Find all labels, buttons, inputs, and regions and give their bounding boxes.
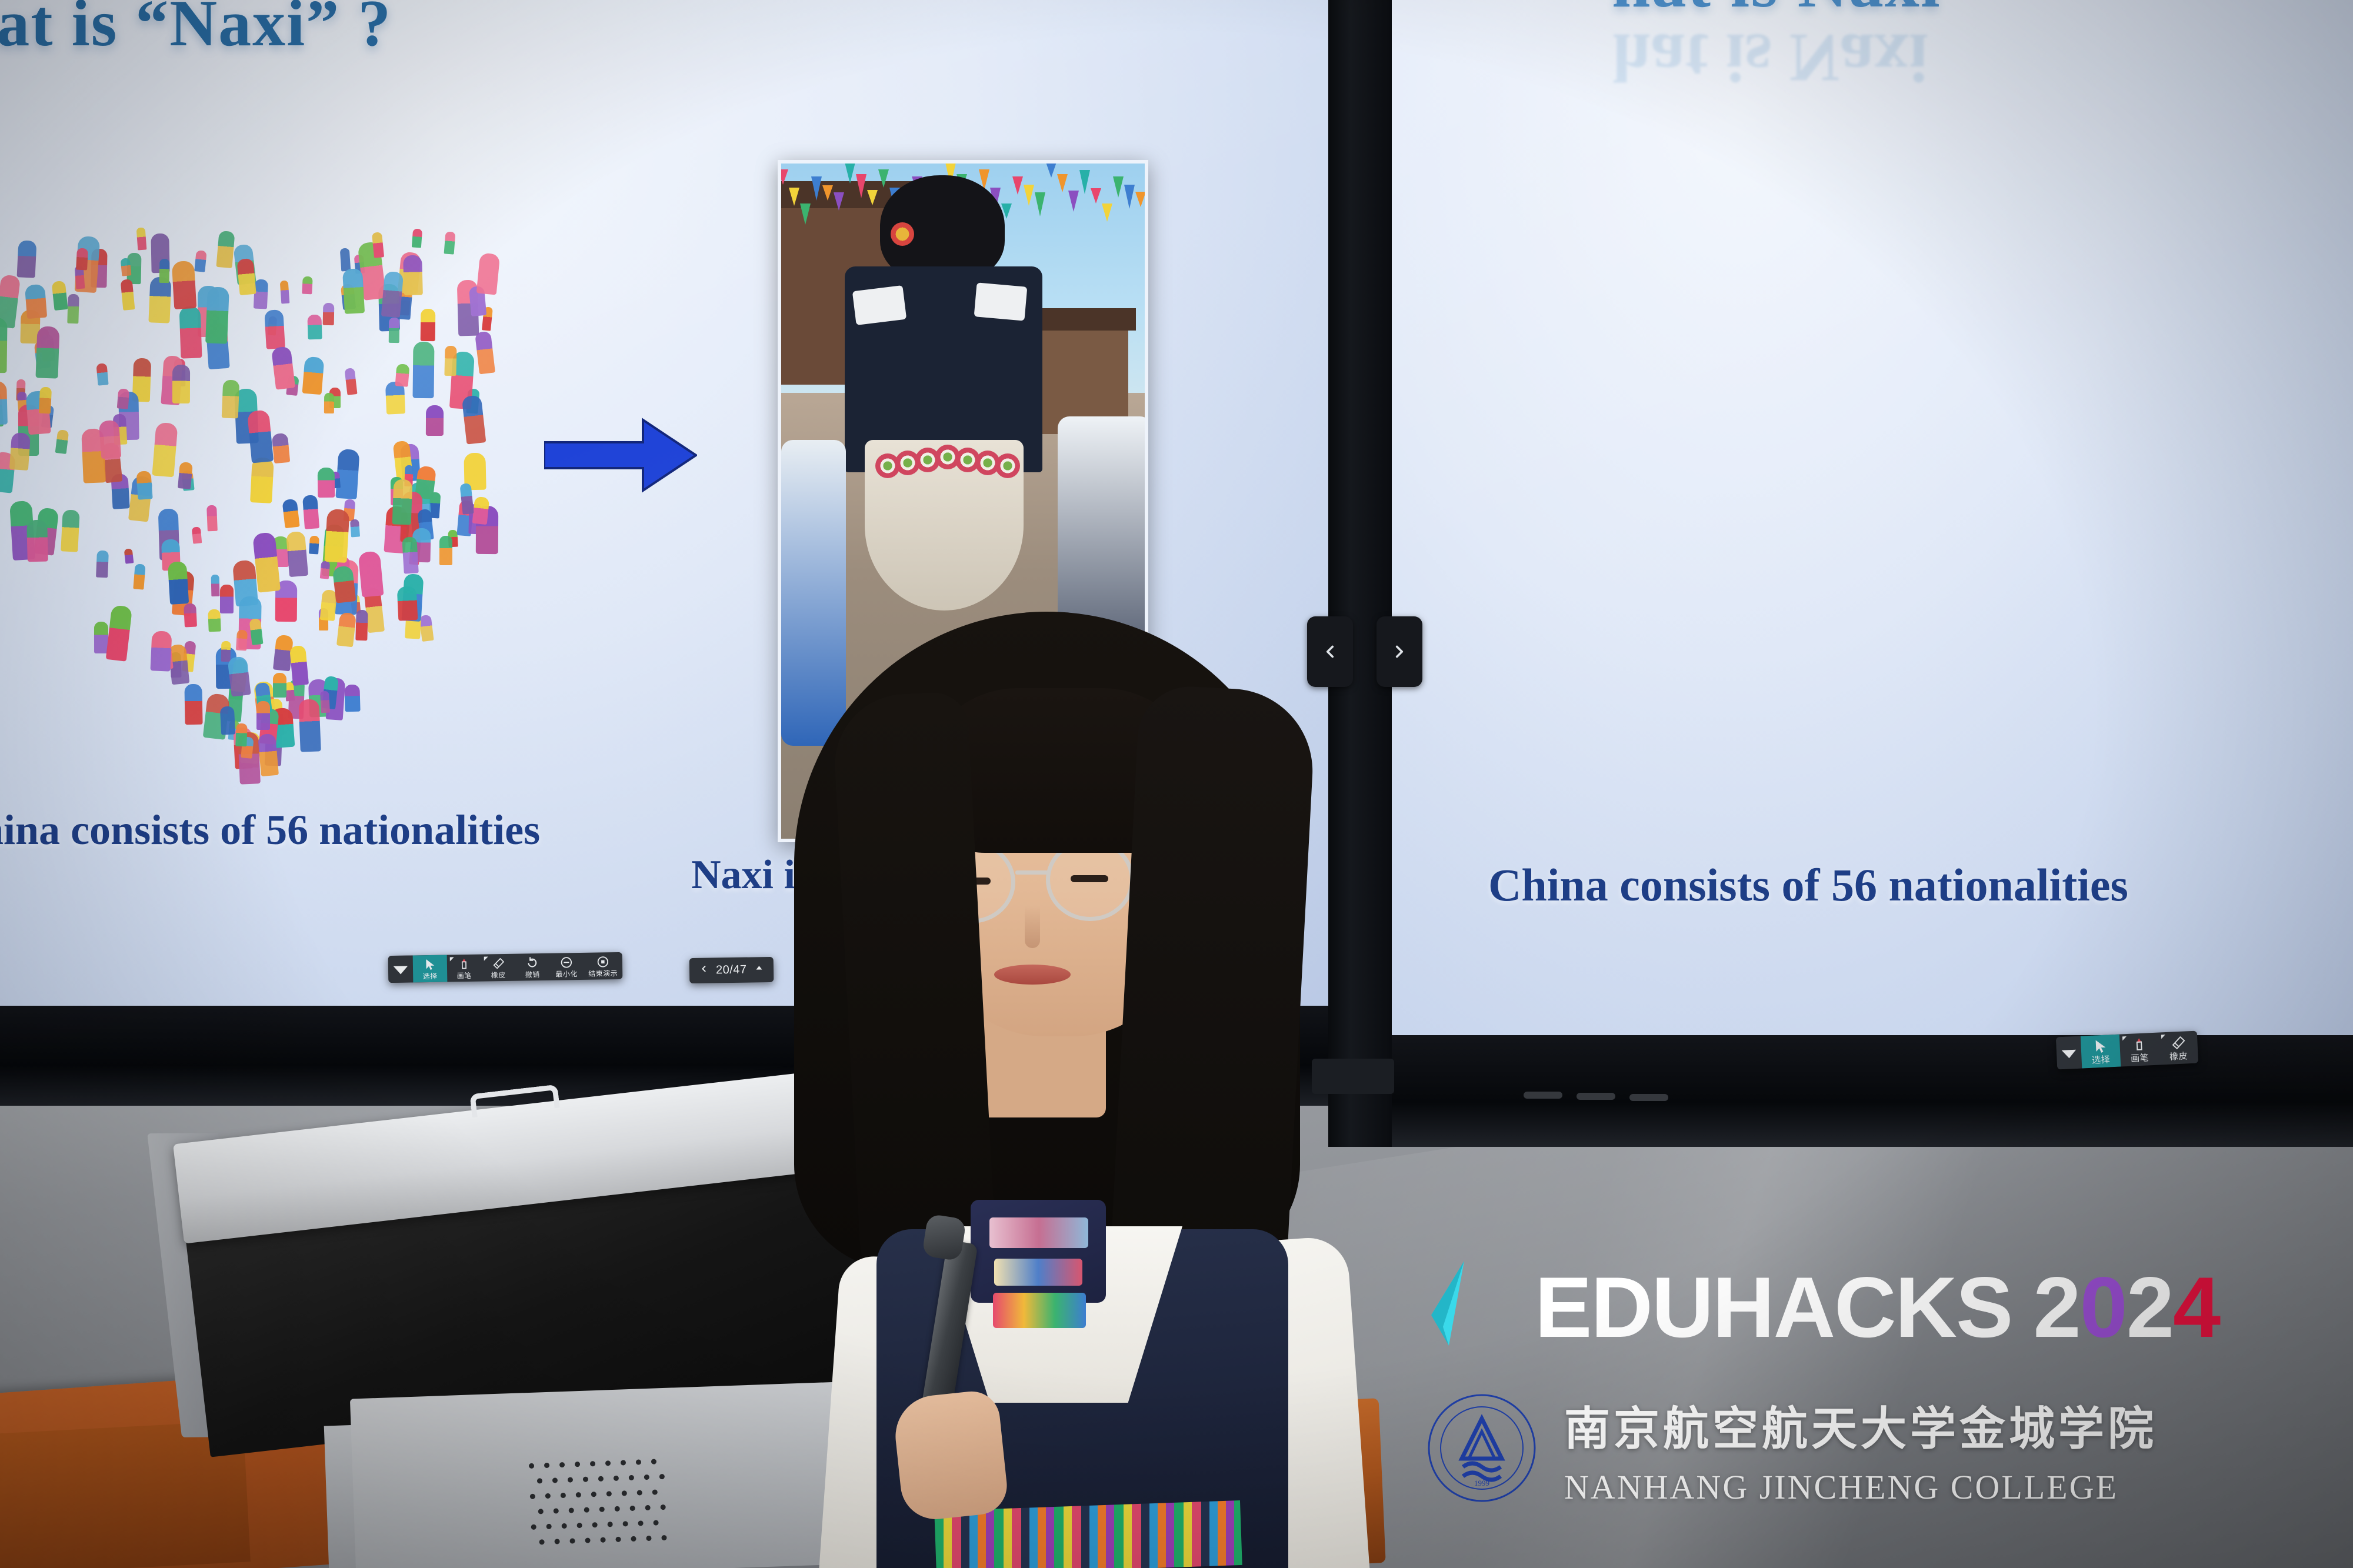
- collage-figure: [323, 303, 335, 325]
- collage-figure: [235, 723, 247, 746]
- collage-figure: [462, 395, 486, 445]
- collar-embroidery-bottom: [993, 1293, 1086, 1328]
- collage-figure: [282, 499, 299, 529]
- eduhacks-text: EDUHACKS: [1535, 1259, 2012, 1355]
- pager-back-icon[interactable]: [699, 964, 709, 978]
- collage-figure: [412, 342, 434, 398]
- slide-title-left: hat is “Naxi” ?: [0, 0, 392, 62]
- grille-hole: [583, 1477, 588, 1482]
- tool-pen-left[interactable]: 画笔: [447, 955, 482, 982]
- college-name-cn: 南京航空航天大学金城学院: [1564, 1392, 2157, 1458]
- collage-figure: [0, 318, 7, 373]
- bunting-flag: [1035, 192, 1045, 216]
- grille-hole: [591, 1492, 596, 1497]
- collage-figure: [194, 250, 207, 272]
- slide-caption-left: hina consists of 56 nationalities: [0, 806, 540, 855]
- collage-figure: [289, 645, 309, 686]
- grille-hole: [530, 1494, 535, 1499]
- bunting-flag: [1146, 162, 1148, 180]
- bunting-flag: [1012, 176, 1023, 195]
- dropdown-corner-icon: [450, 957, 454, 961]
- collage-figure: [236, 630, 248, 651]
- grille-hole: [614, 1476, 619, 1481]
- tool-select-label-left: 选择: [423, 973, 438, 980]
- slide-caption-right: China consists of 56 nationalities: [1488, 859, 2128, 912]
- grille-hole: [584, 1507, 589, 1513]
- collage-figure: [152, 422, 178, 477]
- collage-figure: [350, 519, 360, 538]
- seal-year: 1999: [1474, 1479, 1489, 1487]
- grille-hole: [622, 1490, 627, 1496]
- collage-figure: [302, 495, 319, 529]
- pager-value: 20/47: [716, 963, 747, 978]
- collage-figure: [39, 386, 52, 413]
- grille-hole: [539, 1539, 544, 1544]
- collage-figure: [36, 326, 60, 378]
- collage-figure: [227, 656, 251, 697]
- grille-hole: [538, 1509, 544, 1514]
- whiteboard-toolbar-left[interactable]: 选择 画笔 橡皮 撤销 最小化: [388, 952, 623, 983]
- collage-figure: [250, 457, 274, 503]
- collage-figure: [475, 331, 495, 375]
- collage-figure: [355, 610, 368, 641]
- collage-figure: [206, 505, 218, 532]
- collage-figure: [150, 630, 172, 671]
- cape-disc: [995, 453, 1020, 478]
- collage-figure: [192, 526, 202, 543]
- tool-eraser-label-left: 橡皮: [491, 972, 506, 979]
- grille-hole: [636, 1459, 641, 1464]
- collage-figure: [99, 420, 121, 459]
- grille-hole: [552, 1477, 558, 1483]
- collage-figure: [388, 318, 399, 343]
- bunting-flag: [789, 188, 799, 206]
- grille-hole: [653, 1520, 658, 1525]
- arrow-icon: [544, 412, 697, 500]
- college-name-en: NANHANG JINCHENG COLLEGE: [1564, 1467, 2157, 1507]
- collage-figure: [172, 261, 197, 310]
- bezel-vent: [1524, 1092, 1562, 1099]
- whiteboard-toolbar-right[interactable]: 选择 画笔 橡皮: [2056, 1031, 2198, 1070]
- tool-end-presentation-left[interactable]: 结束演示: [584, 952, 623, 980]
- grille-hole: [621, 1460, 626, 1465]
- collar-embroidery-mid: [994, 1259, 1082, 1286]
- collage-figure: [52, 281, 68, 311]
- grille-hole: [590, 1461, 595, 1466]
- bunting-flag: [1135, 192, 1146, 207]
- collage-figure: [298, 699, 321, 752]
- grille-hole: [651, 1459, 656, 1464]
- collage-figure: [324, 393, 335, 413]
- grille-hole: [544, 1463, 549, 1468]
- collage-figure: [184, 684, 203, 725]
- collage-figure: [426, 405, 444, 436]
- year-digit-0: 0: [2080, 1259, 2127, 1355]
- bunting-flag: [856, 174, 866, 198]
- collage-figure: [205, 286, 229, 343]
- collage-figure: [302, 276, 314, 294]
- grille-hole: [606, 1491, 612, 1496]
- bezel-vent: [1629, 1094, 1668, 1101]
- photo-hair-ornament: [891, 222, 914, 246]
- bezel-vent: [1577, 1093, 1615, 1100]
- collage-figure: [172, 365, 191, 403]
- collage-figure: [342, 268, 365, 314]
- bunting-flag: [1091, 188, 1101, 203]
- collar-embroidery-top: [989, 1217, 1088, 1248]
- eduhacks-wordmark: EDUHACKS2024: [1535, 1265, 2219, 1350]
- collage-figure: [325, 509, 350, 563]
- collage-figure: [124, 549, 134, 564]
- collage-figure: [358, 551, 384, 598]
- bunting-flag: [822, 185, 833, 201]
- bunting-flag: [1068, 191, 1079, 212]
- collage-figure: [159, 259, 170, 283]
- collage-figure: [309, 535, 319, 554]
- collage-figure: [395, 363, 410, 387]
- collage-figure: [120, 258, 131, 276]
- bunting-flag: [800, 203, 811, 225]
- collage-figure: [258, 733, 279, 777]
- event-branding: EDUHACKS2024 1999 南京航空航天大学金城学院 NANHANG J…: [1427, 1259, 2321, 1507]
- collage-figure: [421, 309, 436, 342]
- grille-hole: [615, 1537, 621, 1542]
- collage-figure: [271, 346, 295, 390]
- grille-hole: [554, 1539, 559, 1544]
- tool-minimize-label-left: 最小化: [555, 970, 578, 978]
- grille-hole: [592, 1522, 597, 1527]
- collage-figure: [412, 228, 423, 248]
- collage-figure: [302, 356, 324, 395]
- dropdown-corner-icon: [2122, 1036, 2127, 1040]
- collage-figure: [149, 276, 172, 323]
- presenter-eye-right: [1071, 875, 1108, 882]
- bunting-flag: [1024, 185, 1034, 206]
- collage-figure: [439, 536, 452, 565]
- grille-hole: [577, 1523, 582, 1528]
- collage-figure: [308, 315, 323, 340]
- collage-figure: [345, 368, 358, 395]
- collage-figure: [444, 231, 455, 255]
- grille-hole: [537, 1478, 542, 1483]
- grille-hole: [630, 1506, 635, 1511]
- grille-hole: [546, 1524, 552, 1529]
- grille-hole: [585, 1537, 590, 1543]
- collage-figure: [68, 293, 79, 323]
- bunting-flag: [1046, 162, 1056, 178]
- collage-figure: [236, 258, 256, 295]
- grille-hole: [569, 1507, 574, 1513]
- grille-hole: [622, 1521, 628, 1526]
- collage-figure: [116, 388, 129, 409]
- grille-hole: [661, 1504, 666, 1510]
- tool-pen-label-left: 画笔: [457, 972, 472, 979]
- year-digit-2b: 2: [2127, 1259, 2173, 1355]
- toolbar-collapse-handle-left[interactable]: [388, 955, 414, 983]
- collage-figure: [0, 381, 8, 425]
- tool-select-right[interactable]: 选择: [2081, 1035, 2121, 1069]
- collage-figure: [273, 673, 286, 698]
- grille-hole: [615, 1506, 620, 1512]
- grille-hole: [646, 1536, 651, 1541]
- collage-figure: [211, 575, 220, 597]
- grille-hole: [599, 1507, 605, 1512]
- presenter-nose: [1025, 906, 1040, 948]
- screenshot-root: hat is “Naxi” ? hina consists of 56 nati…: [0, 0, 2353, 1568]
- collage-figure: [134, 563, 146, 589]
- dropdown-corner-icon: [484, 956, 488, 960]
- bunting-flag: [778, 169, 788, 185]
- collage-figure: [286, 531, 308, 578]
- collage-figure: [61, 509, 79, 552]
- collage-figure: [336, 612, 356, 647]
- collage-figure: [318, 467, 335, 498]
- presenter: [759, 576, 1418, 1568]
- collage-figure: [136, 227, 146, 250]
- grille-hole: [638, 1520, 643, 1526]
- collage-figure: [397, 586, 418, 620]
- collage-figure: [247, 409, 274, 463]
- bunting-flag: [1057, 174, 1068, 192]
- tool-eraser-label-right: 橡皮: [2169, 1052, 2188, 1061]
- grille-hole: [629, 1475, 634, 1480]
- collage-figure: [445, 346, 457, 376]
- collage-figure: [372, 232, 384, 258]
- bunting-flag: [1124, 185, 1135, 209]
- paper-plane-icon: [1427, 1259, 1515, 1356]
- tool-pen-label-right: 画笔: [2131, 1053, 2149, 1063]
- dropdown-corner-icon: [2161, 1035, 2165, 1039]
- tool-undo-label-left: 撤销: [525, 971, 540, 978]
- collage-figure: [319, 691, 329, 713]
- grille-hole: [645, 1505, 651, 1510]
- collage-figure: [256, 701, 269, 730]
- collage-figure: [221, 641, 231, 662]
- collage-figure: [279, 280, 289, 303]
- bunting-flag: [811, 176, 822, 201]
- glasses-bridge: [1015, 870, 1048, 875]
- bunting-flag: [1079, 170, 1090, 194]
- collage-figure: [476, 253, 501, 295]
- collage-figure: [340, 248, 351, 271]
- collage-figure: [179, 306, 202, 359]
- photo-shoulder-left: [852, 285, 906, 325]
- screen-bezel-right-bottom: [1388, 1035, 2353, 1147]
- grille-hole: [559, 1462, 565, 1467]
- collage-figure: [9, 432, 31, 471]
- grille-hole: [575, 1462, 580, 1467]
- collage-figure: [16, 240, 36, 278]
- grille-hole: [631, 1536, 636, 1542]
- collage-figure: [392, 479, 413, 525]
- collage-figure: [208, 609, 221, 632]
- bunting-flag: [867, 190, 878, 205]
- collage-figure: [76, 248, 88, 270]
- collage-figure: [184, 603, 197, 627]
- collage-figure: [26, 519, 48, 562]
- grille-hole: [576, 1492, 581, 1497]
- grille-hole: [652, 1489, 658, 1494]
- tool-select-label-right: 选择: [2092, 1055, 2111, 1065]
- collage-figure: [220, 585, 234, 613]
- slide-title-right: hat is Naxi: [1612, 0, 1941, 24]
- grille-hole: [600, 1537, 605, 1543]
- grille-hole: [568, 1477, 573, 1482]
- presenter-collar: [971, 1200, 1106, 1303]
- collage-figure: [345, 684, 361, 711]
- year-digit-2: 2: [2033, 1259, 2079, 1355]
- bunting-flag: [845, 162, 855, 184]
- university-seal-icon: 1999: [1427, 1393, 1537, 1506]
- grille-hole: [607, 1522, 612, 1527]
- grille-hole: [545, 1493, 551, 1499]
- collage-figure: [381, 271, 404, 318]
- photo-shoulder-right: [974, 282, 1028, 321]
- grille-hole: [562, 1523, 567, 1529]
- collage-figure: [419, 615, 434, 642]
- collage-figure: [216, 231, 235, 268]
- collage-figure: [222, 380, 240, 419]
- presenter-mouth: [994, 965, 1071, 985]
- year-digit-4: 4: [2173, 1259, 2219, 1355]
- grille-hole: [531, 1524, 536, 1530]
- collage-figure: [403, 255, 423, 295]
- collage-figure: [168, 561, 189, 605]
- grille-hole: [605, 1460, 611, 1466]
- collage-figure: [96, 551, 109, 578]
- collage-figure: [96, 363, 108, 385]
- bunting-flag: [1113, 176, 1124, 198]
- bunting-flag: [834, 192, 844, 211]
- presenter-hand: [892, 1389, 1010, 1523]
- collage-figure: [271, 433, 289, 463]
- grille-hole: [529, 1463, 534, 1469]
- grille-hole: [637, 1490, 642, 1495]
- tool-select-left[interactable]: 选择: [413, 955, 448, 983]
- toolbar-collapse-handle-right[interactable]: [2056, 1036, 2082, 1070]
- tool-eraser-right[interactable]: 橡皮: [2158, 1031, 2198, 1065]
- slide-title-right-reflection: hat is Naxi: [1612, 18, 1928, 98]
- tool-pen-right[interactable]: 画笔: [2119, 1033, 2159, 1067]
- collage-figure: [178, 462, 193, 489]
- collage-figure: [472, 496, 490, 525]
- collage-figure: [264, 309, 285, 349]
- collage-figure: [105, 605, 132, 661]
- grille-hole: [569, 1538, 575, 1543]
- collage-figure: [254, 279, 268, 309]
- collage-figure: [402, 537, 418, 575]
- tool-eraser-left[interactable]: 橡皮: [481, 954, 516, 982]
- collage-figure: [136, 471, 153, 500]
- grille-hole: [661, 1535, 666, 1540]
- collage-figure: [25, 284, 47, 319]
- grille-hole: [561, 1493, 566, 1498]
- grille-hole: [659, 1474, 665, 1479]
- grille-hole: [598, 1476, 604, 1482]
- collage-figure: [320, 561, 330, 579]
- collage-figure: [219, 706, 235, 735]
- collage-figure: [55, 429, 68, 454]
- nationalities-collage-left: [0, 218, 506, 747]
- grille-hole: [644, 1474, 649, 1480]
- tool-minimize-left[interactable]: 最小化: [549, 953, 584, 980]
- grille-hole: [554, 1508, 559, 1513]
- bunting-flag: [878, 169, 889, 188]
- tool-end-presentation-label-left: 结束演示: [588, 970, 618, 978]
- bunting-flag: [1102, 203, 1112, 222]
- tool-undo-left[interactable]: 撤销: [515, 953, 550, 981]
